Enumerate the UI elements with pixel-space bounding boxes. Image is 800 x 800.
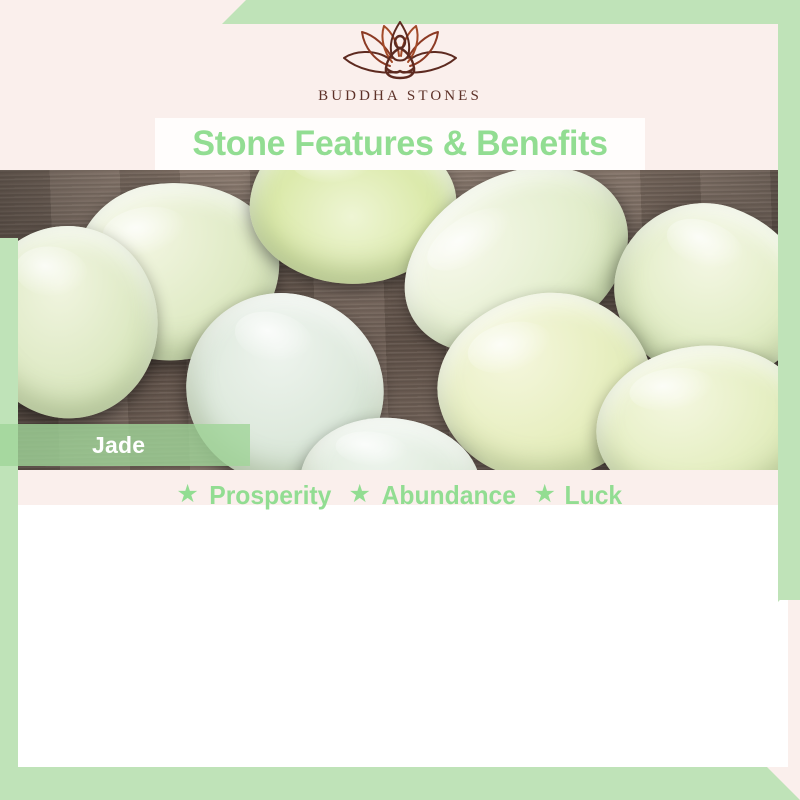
accent-bar-right: [778, 0, 800, 600]
benefit-item: ★ Prosperity: [176, 480, 334, 511]
star-icon: ★: [176, 482, 198, 507]
benefit-item: ★ Abundance: [348, 480, 519, 511]
accent-bar-left: [0, 238, 18, 800]
benefits-list: ★ Prosperity ★ Abundance ★ Luck: [0, 470, 800, 512]
star-icon: ★: [348, 482, 370, 507]
stone-info-card: BUDDHA STONES Stone Features & Benefits …: [0, 0, 800, 800]
page-title: Stone Features & Benefits: [192, 124, 607, 164]
benefit-label: Prosperity: [209, 480, 331, 511]
benefit-item: ★ Luck: [533, 480, 623, 511]
stone-name-label: Jade: [92, 432, 145, 459]
star-icon: ★: [533, 482, 555, 507]
benefit-label: Luck: [564, 480, 622, 511]
brand-wordmark: BUDDHA STONES: [318, 88, 482, 105]
content-area: ★ Prosperity ★ Abundance ★ Luck: [0, 470, 800, 760]
header-banner: Stone Features & Benefits: [155, 118, 645, 170]
lotus-meditation-icon: [330, 18, 470, 84]
benefit-label: Abundance: [381, 480, 515, 511]
brand-logo: BUDDHA STONES: [0, 18, 800, 118]
stone-name-band: Jade: [0, 424, 250, 466]
